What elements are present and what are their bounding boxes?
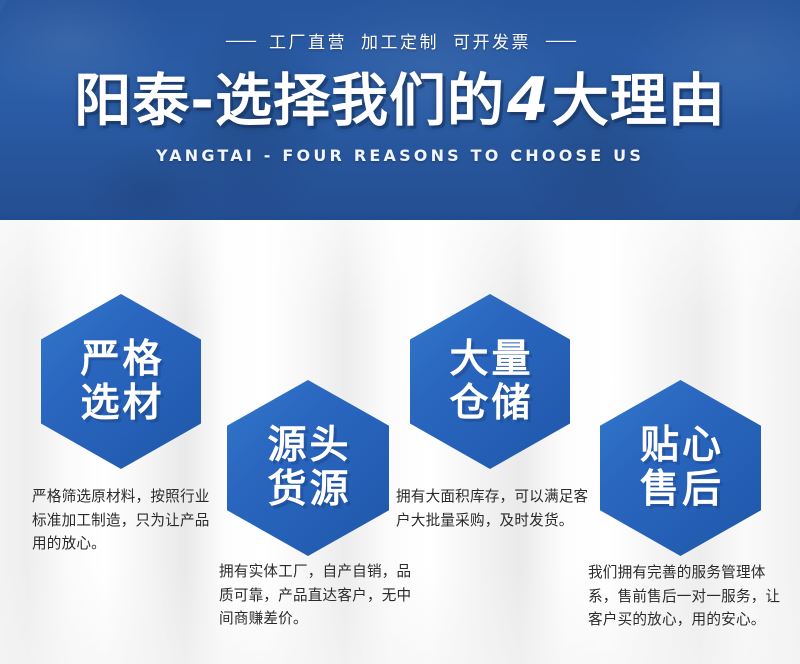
reason-title-line2: 选材 bbox=[77, 382, 164, 426]
headline-suffix: 大理由 bbox=[552, 68, 726, 134]
eyebrow-item-0: 工厂直营 bbox=[269, 28, 347, 53]
banner-headline: 阳泰-选择我们的4大理由 bbox=[74, 68, 725, 133]
reason-caption-source-supply: 拥有实体工厂，自产自销，品质可靠，产品直达客户，无中间商赚差价。 bbox=[219, 560, 415, 631]
banner-eyebrow: —— 工厂直营 加工定制 可开发票 —— bbox=[225, 28, 575, 53]
reason-title-line1: 源头 bbox=[264, 424, 351, 468]
promo-page: —— 工厂直营 加工定制 可开发票 —— 阳泰-选择我们的4大理由 YANGTA… bbox=[0, 0, 800, 664]
eyebrow-dash-right-icon: —— bbox=[545, 31, 575, 51]
headline-prefix: 阳泰-选择我们的 bbox=[74, 68, 505, 134]
reason-title-line2: 仓储 bbox=[446, 382, 533, 426]
eyebrow-item-2: 可开发票 bbox=[453, 28, 531, 53]
eyebrow-item-1: 加工定制 bbox=[361, 28, 439, 53]
reason-title-line1: 贴心 bbox=[637, 424, 724, 468]
hero-banner: —— 工厂直营 加工定制 可开发票 —— 阳泰-选择我们的4大理由 YANGTA… bbox=[0, 0, 800, 220]
reason-caption-caring-after-sales: 我们拥有完善的服务管理体系，售前售后一对一服务，让客户买的放心，用的安心。 bbox=[588, 561, 788, 632]
reason-caption-strict-material-selection: 严格筛选原材料，按照行业标准加工制造，只为让产品用的放心。 bbox=[32, 485, 222, 556]
reason-title-line2: 货源 bbox=[264, 468, 351, 512]
eyebrow-dash-left-icon: —— bbox=[225, 31, 255, 51]
reason-title-line2: 售后 bbox=[637, 468, 724, 512]
headline-number: 4 bbox=[505, 65, 552, 135]
reason-title-line1: 严格 bbox=[77, 338, 164, 382]
banner-subline: YANGTAI - FOUR REASONS TO CHOOSE US bbox=[156, 146, 644, 165]
reason-title-line1: 大量 bbox=[446, 338, 533, 382]
reason-caption-large-warehouse: 拥有大面积库存，可以满足客户大批量采购，及时发货。 bbox=[396, 485, 592, 532]
